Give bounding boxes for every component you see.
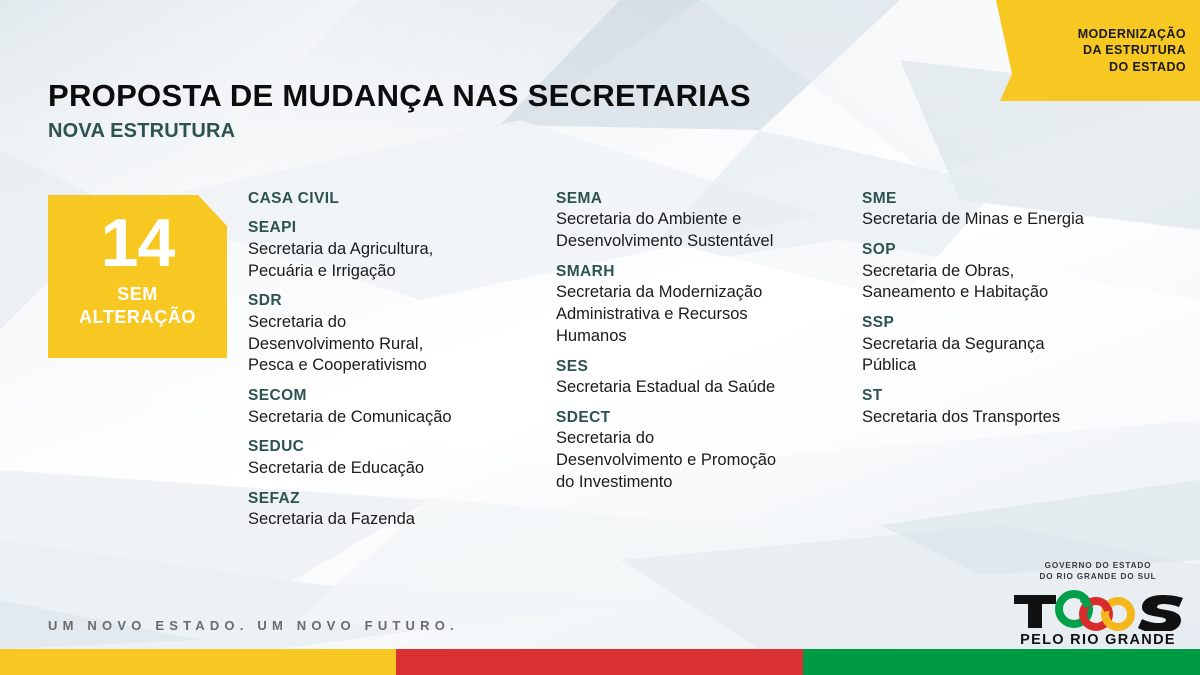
gov-logo-slogan: PELO RIO GRANDE (1008, 632, 1188, 648)
secretariat-fullname: Secretaria Estadual da Saúde (556, 377, 856, 399)
todos-wordmark-icon (1012, 587, 1184, 631)
secretariat-acronym: CASA CIVIL (248, 189, 538, 209)
count-badge-label-line-2: ALTERAÇÃO (79, 307, 196, 328)
count-badge: 14 SEM ALTERAÇÃO (48, 195, 227, 358)
secretariat-column-2: SEMASecretaria do Ambiente e Desenvolvim… (556, 189, 856, 494)
bottom-color-bar (0, 649, 1200, 675)
secretariat-entry: SMARHSecretaria da Modernização Administ… (556, 262, 856, 348)
secretariat-acronym: SES (556, 357, 856, 377)
secretariat-fullname: Secretaria dos Transportes (862, 407, 1162, 429)
secretariat-entry: CASA CIVIL (248, 189, 538, 209)
secretariat-acronym: SDR (248, 291, 538, 311)
secretariat-fullname: Secretaria da Modernização Administrativ… (556, 282, 856, 347)
secretariat-entry: SEAPISecretaria da Agricultura, Pecuária… (248, 218, 538, 282)
secretariat-acronym: SME (862, 189, 1162, 209)
secretariat-acronym: ST (862, 386, 1162, 406)
modernization-corner-tag: MODERNIZAÇÃO DA ESTRUTURA DO ESTADO (988, 0, 1200, 101)
bottom-bar-segment-red (396, 649, 803, 675)
page-subtitle: NOVA ESTRUTURA (48, 120, 235, 143)
secretariat-acronym: SECOM (248, 386, 538, 406)
corner-tag-line-2: DA ESTRUTURA (1078, 42, 1186, 59)
secretariat-column-3: SMESecretaria de Minas e EnergiaSOPSecre… (862, 189, 1162, 428)
count-badge-number: 14 (101, 211, 175, 276)
corner-tag-line-3: DO ESTADO (1078, 59, 1186, 76)
secretariat-fullname: Secretaria do Desenvolvimento Rural, Pes… (248, 312, 538, 377)
secretariat-entry: SDRSecretaria do Desenvolvimento Rural, … (248, 291, 538, 377)
count-badge-label-line-1: SEM (117, 284, 158, 305)
secretariat-entry: SEFAZSecretaria da Fazenda (248, 489, 538, 531)
secretariat-entry: SOPSecretaria de Obras, Saneamento e Hab… (862, 240, 1162, 304)
secretariat-acronym: SMARH (556, 262, 856, 282)
secretariat-fullname: Secretaria da Fazenda (248, 509, 538, 531)
secretariat-acronym: SEFAZ (248, 489, 538, 509)
secretariat-entry: SDECTSecretaria do Desenvolvimento e Pro… (556, 408, 856, 494)
slide-canvas: MODERNIZAÇÃO DA ESTRUTURA DO ESTADO PROP… (0, 0, 1200, 675)
secretariat-entry: SSPSecretaria da Segurança Pública (862, 313, 1162, 377)
page-title: PROPOSTA DE MUDANÇA NAS SECRETARIAS (48, 78, 751, 114)
secretariat-fullname: Secretaria de Educação (248, 458, 538, 480)
corner-tag-line-1: MODERNIZAÇÃO (1078, 26, 1186, 43)
gov-logo-line-2: DO RIO GRANDE DO SUL (1008, 571, 1188, 582)
todos-wordmark (1008, 587, 1188, 631)
secretariat-entry: SEMASecretaria do Ambiente e Desenvolvim… (556, 189, 856, 253)
secretariat-entry: STSecretaria dos Transportes (862, 386, 1162, 428)
secretariat-fullname: Secretaria de Comunicação (248, 407, 538, 429)
secretariat-fullname: Secretaria de Obras, Saneamento e Habita… (862, 261, 1162, 305)
secretariat-acronym: SOP (862, 240, 1162, 260)
secretariat-acronym: SDECT (556, 408, 856, 428)
secretariat-acronym: SEDUC (248, 437, 538, 457)
corner-tag-text: MODERNIZAÇÃO DA ESTRUTURA DO ESTADO (1078, 26, 1186, 76)
bottom-bar-segment-yellow (0, 649, 396, 675)
bottom-bar-segment-green (803, 649, 1200, 675)
secretariat-acronym: SEAPI (248, 218, 538, 238)
secretariat-acronym: SSP (862, 313, 1162, 333)
secretariat-fullname: Secretaria da Agricultura, Pecuária e Ir… (248, 239, 538, 283)
secretariat-acronym: SEMA (556, 189, 856, 209)
secretariat-entry: SESSecretaria Estadual da Saúde (556, 357, 856, 399)
secretariat-column-1: CASA CIVILSEAPISecretaria da Agricultura… (248, 189, 538, 531)
secretariat-fullname: Secretaria da Segurança Pública (862, 334, 1162, 378)
secretariat-entry: SMESecretaria de Minas e Energia (862, 189, 1162, 231)
secretariat-entry: SECOMSecretaria de Comunicação (248, 386, 538, 428)
secretariat-fullname: Secretaria do Ambiente e Desenvolvimento… (556, 209, 856, 253)
tagline: UM NOVO ESTADO. UM NOVO FUTURO. (48, 618, 459, 633)
secretariat-fullname: Secretaria do Desenvolvimento e Promoção… (556, 428, 856, 493)
secretariat-fullname: Secretaria de Minas e Energia (862, 209, 1162, 231)
gov-logo-line-1: GOVERNO DO ESTADO (1008, 560, 1188, 571)
government-logo: GOVERNO DO ESTADO DO RIO GRANDE DO SUL P… (1008, 560, 1188, 648)
secretariat-entry: SEDUCSecretaria de Educação (248, 437, 538, 479)
